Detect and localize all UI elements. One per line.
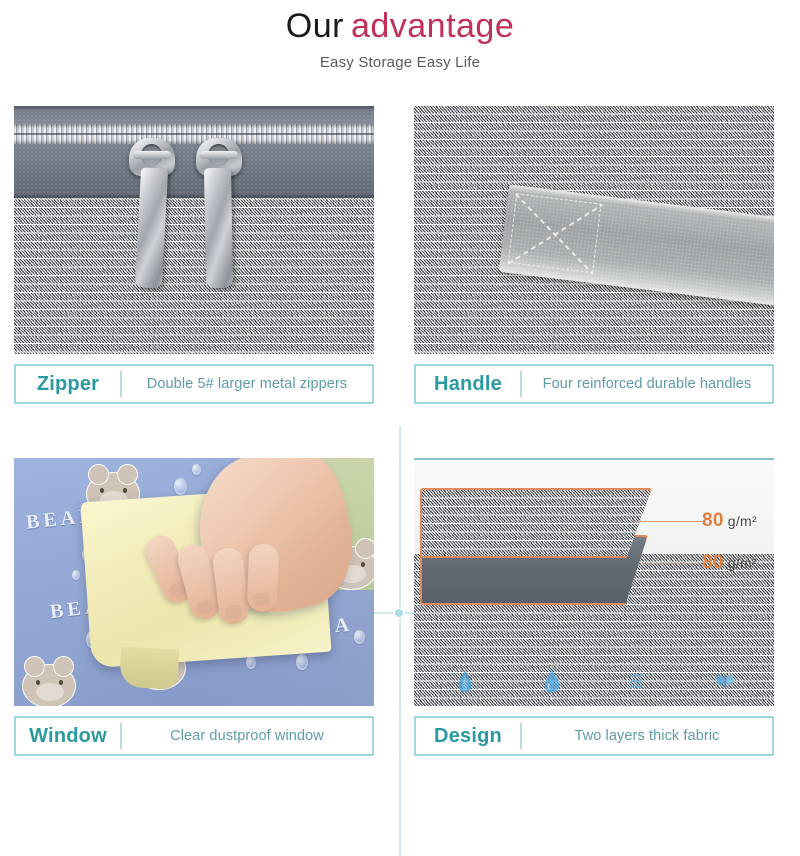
- breathable-icon: [627, 668, 649, 694]
- zipper-photo: [14, 106, 374, 354]
- caption-zipper: Zipper Double 5# larger metal zippers: [14, 364, 374, 404]
- feature-panel-handle: Handle Four reinforced durable handles: [400, 96, 800, 448]
- zipper-teeth: [14, 124, 374, 144]
- water-droplet: [72, 570, 80, 580]
- water-droplet: [246, 656, 256, 669]
- water-drop-icon: [541, 668, 563, 694]
- design-feature-icon-row: [454, 668, 736, 694]
- feature-panel-zipper: Zipper Double 5# larger metal zippers: [0, 96, 400, 448]
- water-droplet: [296, 654, 308, 670]
- handle-stitch-box: [508, 193, 602, 273]
- feature-panel-window: BEAR BEA BEA Window Clear dustproof wind…: [0, 448, 400, 800]
- zipper-pull-tab: [204, 168, 233, 288]
- finger: [247, 543, 279, 612]
- caption-key: Design: [416, 718, 520, 754]
- feature-panel-design: 80g/m² 80g/m²: [400, 448, 800, 800]
- page-title: Ouradvantage: [0, 4, 800, 48]
- caption-handle: Handle Four reinforced durable handles: [414, 364, 774, 404]
- design-photo: 80g/m² 80g/m²: [414, 458, 774, 706]
- handle-photo: [414, 106, 774, 354]
- zipper-band-edge-top: [14, 106, 374, 109]
- window-photo: BEAR BEA BEA: [14, 458, 374, 706]
- gsm-label-inner: 80g/m²: [702, 552, 757, 574]
- water-droplet: [192, 464, 201, 475]
- gsm-unit: g/m²: [728, 513, 757, 529]
- caption-value: Four reinforced durable handles: [522, 366, 772, 402]
- caption-design: Design Two layers thick fabric: [414, 716, 774, 756]
- zipper-band: [14, 106, 374, 198]
- caption-value: Double 5# larger metal zippers: [122, 366, 372, 402]
- title-word-our: Our: [286, 7, 344, 45]
- caption-window: Window Clear dustproof window: [14, 716, 374, 756]
- herringbone-overlay: [422, 490, 650, 556]
- feature-grid: Zipper Double 5# larger metal zippers Ha…: [0, 96, 800, 800]
- gsm-unit: g/m²: [728, 555, 757, 571]
- design-top-rule: [414, 458, 774, 460]
- zipper-band-edge-bottom: [14, 195, 374, 198]
- caption-key: Zipper: [16, 366, 120, 402]
- gsm-number: 80: [702, 552, 724, 573]
- title-word-advantage: advantage: [351, 7, 514, 45]
- handle-stitch-diagonal: [515, 193, 593, 274]
- fabric-layer-outer: [420, 488, 652, 558]
- butterfly-icon: [714, 668, 736, 694]
- zipper-pull-bar: [133, 151, 171, 159]
- zipper-seam: [14, 133, 374, 135]
- caption-key: Handle: [416, 366, 520, 402]
- water-droplet: [354, 630, 365, 644]
- caption-key: Window: [16, 718, 120, 754]
- page-subtitle: Easy Storage Easy Life: [0, 52, 800, 74]
- lotus-icon: [454, 668, 476, 694]
- page-header: Ouradvantage Easy Storage Easy Life: [0, 0, 800, 74]
- callout-leader-line: [638, 521, 702, 522]
- water-droplet: [174, 478, 187, 495]
- caption-value: Two layers thick fabric: [522, 718, 772, 754]
- gsm-label-outer: 80g/m²: [702, 510, 757, 532]
- zipper-pull-bar: [200, 151, 238, 159]
- callout-leader-line: [642, 563, 700, 564]
- caption-value: Clear dustproof window: [122, 718, 372, 754]
- handle-stitch-diagonal: [508, 204, 603, 264]
- gsm-number: 80: [702, 510, 724, 531]
- bear-print-icon: [22, 664, 76, 706]
